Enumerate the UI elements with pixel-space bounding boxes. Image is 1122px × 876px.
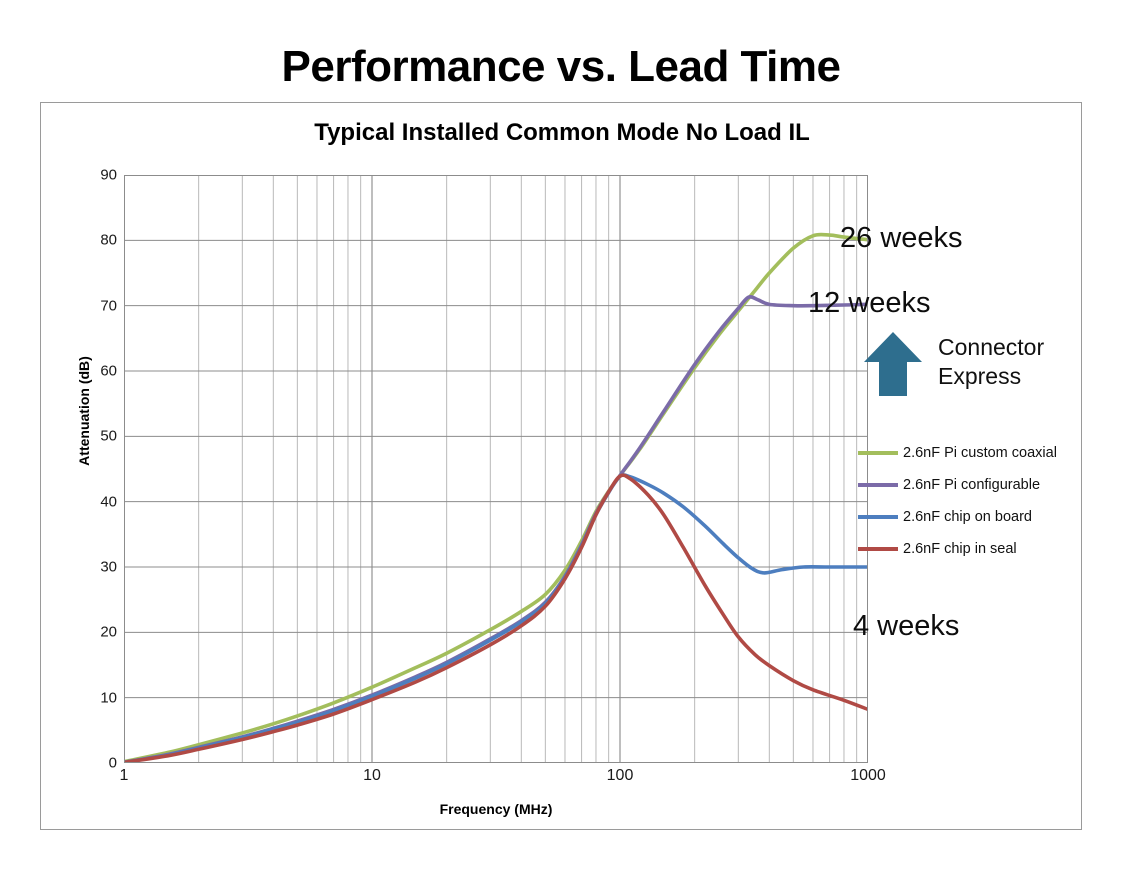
y-axis-tick-label: 0 — [71, 755, 117, 772]
legend-item: 2.6nF Pi configurable — [858, 469, 1108, 501]
annotation-4-weeks: 4 weeks — [853, 610, 959, 643]
legend-color-swatch — [858, 483, 898, 487]
series-line — [124, 235, 868, 762]
chart-subtitle: Typical Installed Common Mode No Load IL — [41, 119, 1083, 147]
x-axis-label: Frequency (MHz) — [124, 801, 868, 817]
series-line — [124, 475, 868, 762]
y-axis-tick-label: 70 — [71, 297, 117, 314]
x-axis-tick-label: 1000 — [850, 767, 886, 785]
grid-major-lines — [124, 175, 868, 763]
legend-color-swatch — [858, 547, 898, 551]
slide-canvas: Performance vs. Lead Time Typical Instal… — [0, 0, 1122, 876]
connector-express-line2: Express — [938, 362, 1044, 391]
x-axis-tick-label: 10 — [363, 767, 381, 785]
chart-plot-svg — [124, 175, 868, 763]
x-axis-tick-label: 100 — [607, 767, 634, 785]
connector-express-annotation: Connector Express — [862, 330, 1112, 400]
up-arrow-icon — [862, 330, 924, 398]
legend-item-label: 2.6nF Pi custom coaxial — [903, 445, 1057, 461]
legend-item: 2.6nF Pi custom coaxial — [858, 437, 1108, 469]
plot-area — [124, 175, 868, 763]
y-axis-label: Attenuation (dB) — [76, 336, 92, 486]
legend-item-label: 2.6nF Pi configurable — [903, 477, 1040, 493]
annotation-12-weeks: 12 weeks — [808, 287, 931, 320]
legend-item-label: 2.6nF chip in seal — [903, 541, 1017, 557]
y-axis-tick-label: 80 — [71, 232, 117, 249]
legend-item: 2.6nF chip on board — [858, 501, 1108, 533]
x-axis-tick-label: 1 — [120, 767, 129, 785]
series-line — [124, 297, 868, 763]
x-axis-ticks: 1101001000 — [124, 767, 868, 793]
y-axis-tick-label: 30 — [71, 559, 117, 576]
legend-color-swatch — [858, 515, 898, 519]
chart-legend: 2.6nF Pi custom coaxial2.6nF Pi configur… — [858, 437, 1108, 565]
y-axis-tick-label: 90 — [71, 167, 117, 184]
grid-minor-lines — [199, 175, 857, 763]
legend-item: 2.6nF chip in seal — [858, 533, 1108, 565]
y-axis-tick-label: 10 — [71, 689, 117, 706]
y-axis-tick-label: 40 — [71, 493, 117, 510]
legend-color-swatch — [858, 451, 898, 455]
legend-item-label: 2.6nF chip on board — [903, 509, 1032, 525]
y-axis-tick-label: 20 — [71, 624, 117, 641]
series-line — [124, 475, 868, 762]
annotation-26-weeks: 26 weeks — [840, 222, 963, 255]
connector-express-line1: Connector — [938, 333, 1044, 362]
page-title: Performance vs. Lead Time — [0, 42, 1122, 92]
connector-express-label: Connector Express — [938, 333, 1044, 391]
plot-border — [125, 176, 868, 763]
series-lines — [124, 235, 868, 763]
